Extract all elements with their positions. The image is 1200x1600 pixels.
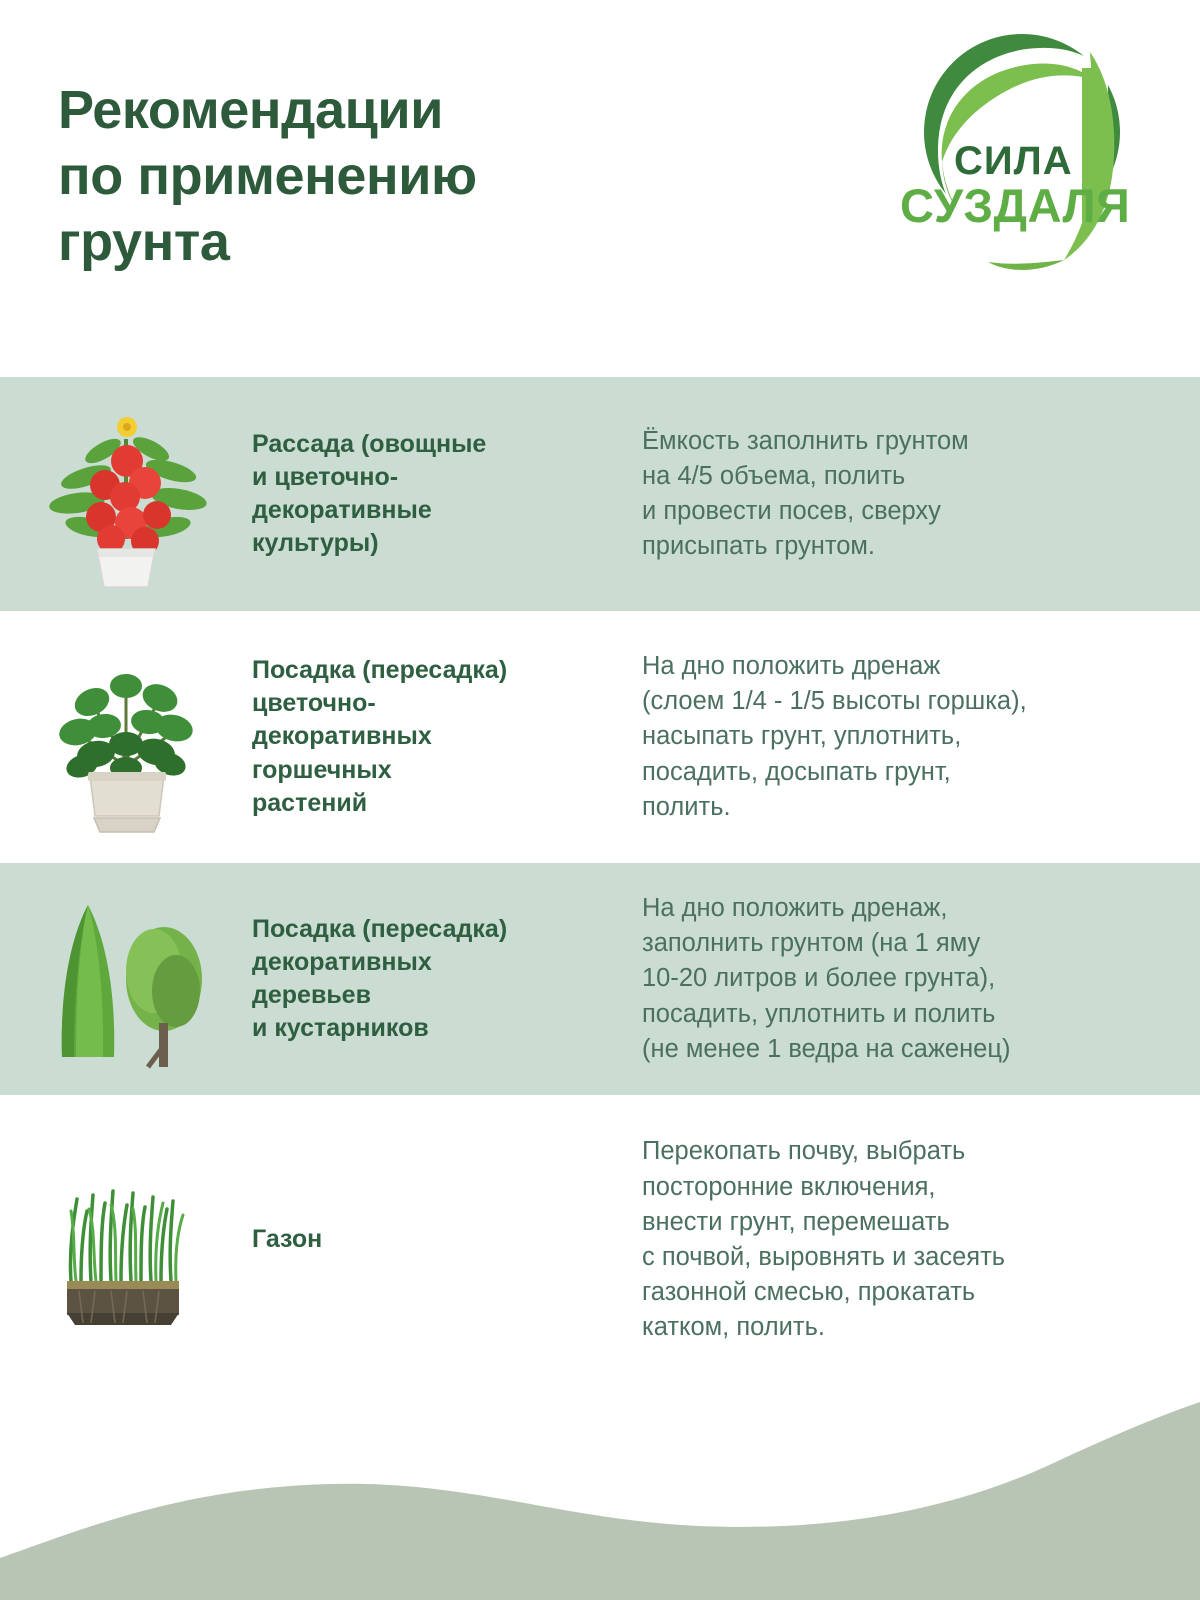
row-image-cell xyxy=(0,377,252,611)
table-row: Посадка (пересадка) цветочно- декоративн… xyxy=(0,611,1200,863)
header: Рекомендации по применению грунта СИЛА С… xyxy=(0,0,1200,377)
table-row: Газон Перекопать почву, выбрать посторон… xyxy=(0,1095,1200,1385)
row-image-cell xyxy=(0,611,252,863)
tomato-seedling-plant-icon xyxy=(41,399,211,589)
row-title: Посадка (пересадка) цветочно- декоративн… xyxy=(252,654,642,820)
potted-foliage-plant-icon xyxy=(44,640,209,835)
logo-word-2: СУЗДАЛЯ xyxy=(900,179,1130,232)
brand-logo: СИЛА СУЗДАЛЯ xyxy=(894,22,1142,280)
row-image-cell xyxy=(0,863,252,1095)
row-description: На дно положить дренаж (слоем 1/4 - 1/5 … xyxy=(642,649,1160,825)
bottom-wave-decoration xyxy=(0,1380,1200,1600)
table-row: Посадка (пересадка) декоративных деревье… xyxy=(0,863,1200,1095)
wave-shape-icon xyxy=(0,1380,1200,1600)
row-title: Посадка (пересадка) декоративных деревье… xyxy=(252,913,642,1046)
leaf-circle-icon: СИЛА СУЗДАЛЯ xyxy=(894,22,1142,280)
row-description: Перекопать почву, выбрать посторонние вк… xyxy=(642,1134,1160,1345)
row-image-cell xyxy=(0,1095,252,1385)
row-description: Ёмкость заполнить грунтом на 4/5 объема,… xyxy=(642,424,1160,565)
logo-word-1: СИЛА xyxy=(954,139,1073,183)
decorative-trees-icon xyxy=(36,887,216,1072)
row-title: Рассада (овощные и цветочно- декоративны… xyxy=(252,428,642,561)
row-description: На дно положить дренаж, заполнить грунто… xyxy=(642,891,1160,1067)
table-row: Рассада (овощные и цветочно- декоративны… xyxy=(0,377,1200,611)
row-title: Газон xyxy=(252,1223,642,1256)
page-title: Рекомендации по применению грунта xyxy=(58,78,477,276)
lawn-turf-icon xyxy=(39,1153,214,1328)
recommendations-table: Рассада (овощные и цветочно- декоративны… xyxy=(0,377,1200,1385)
